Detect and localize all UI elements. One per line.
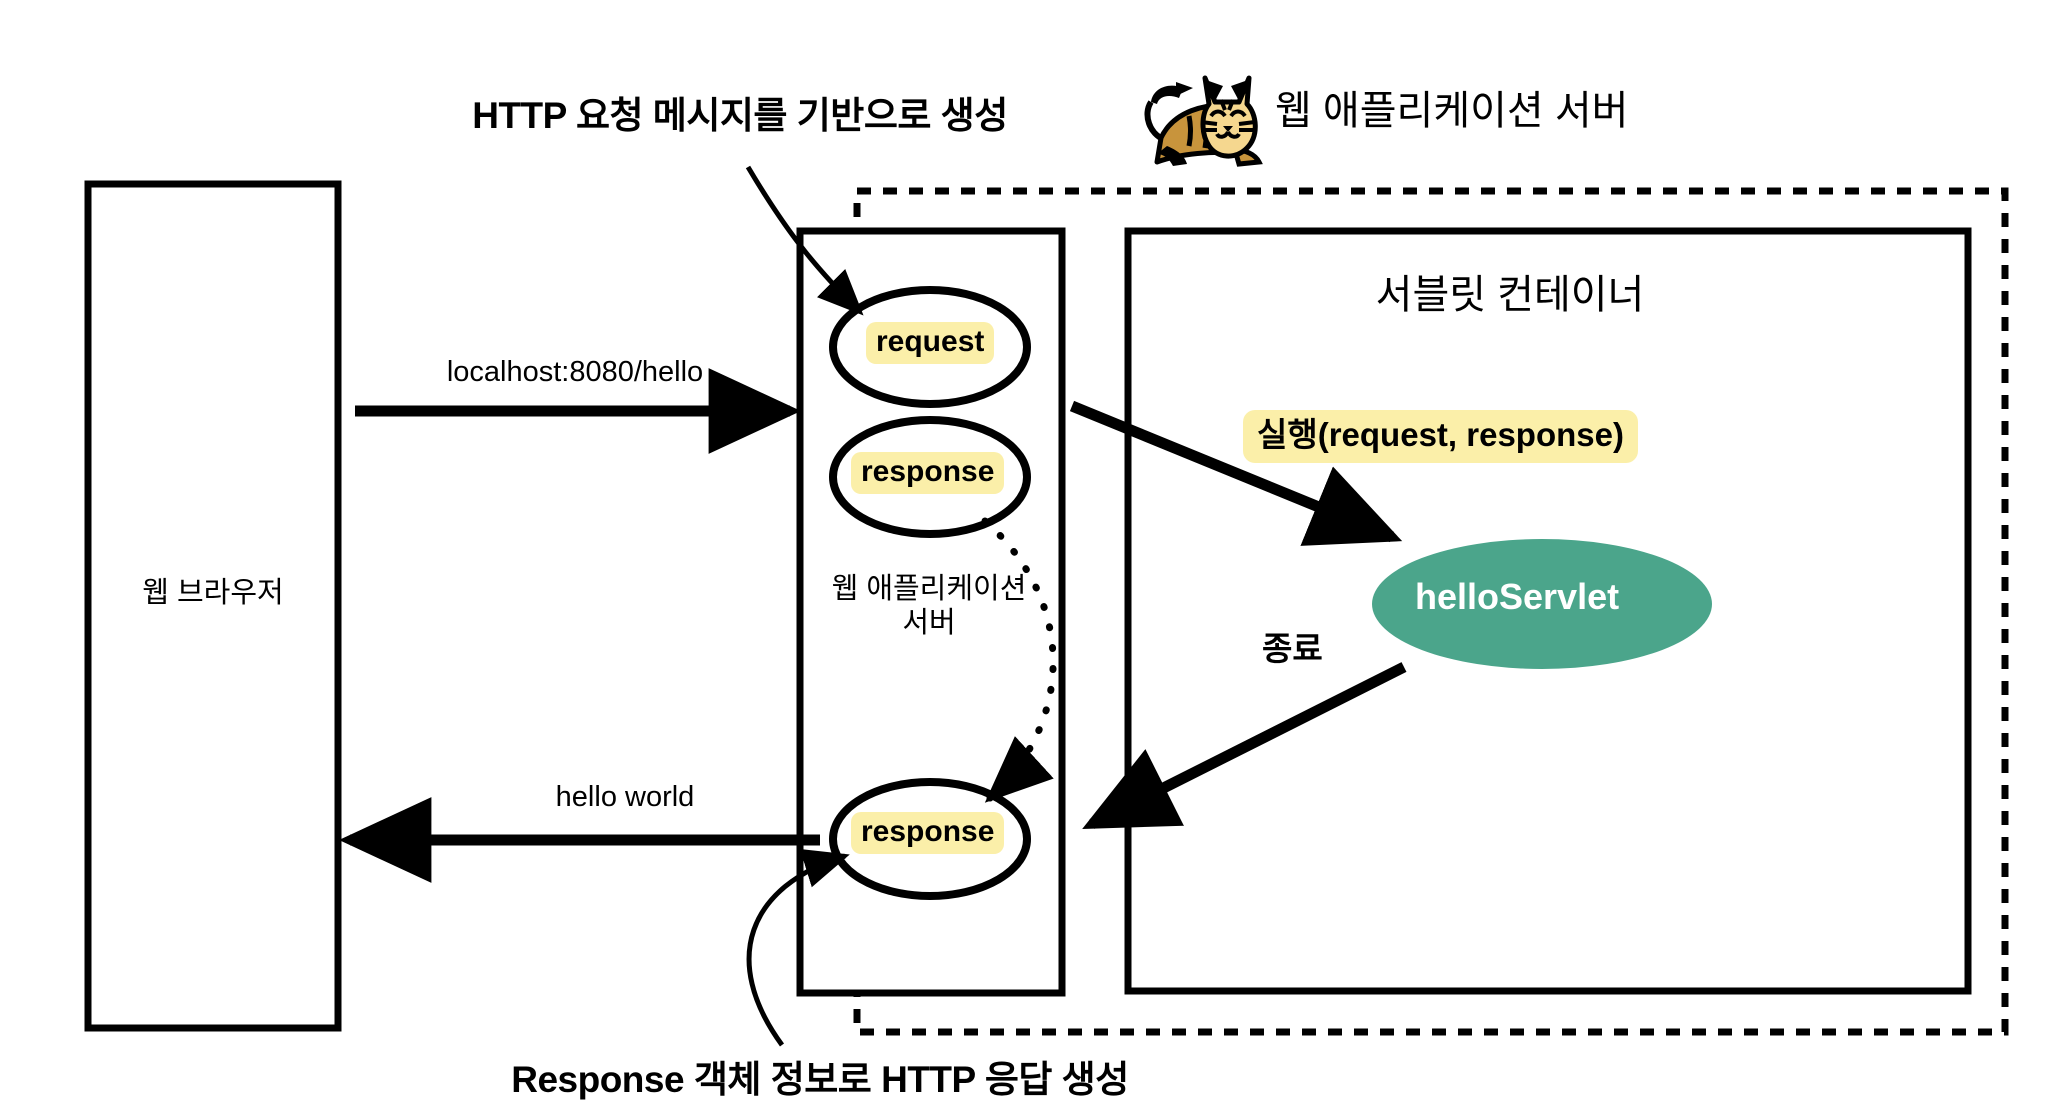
diagram-canvas: HTTP 요청 메시지를 기반으로 생성 웹 애플리케이션 서버 웹 브라우저 … bbox=[0, 0, 2058, 1118]
diagram-vector-layer bbox=[0, 0, 2058, 1118]
request-object-label: request bbox=[866, 322, 994, 364]
response-out-object-label: response bbox=[851, 812, 1004, 854]
end-arrow bbox=[1092, 667, 1404, 824]
request-url-label: localhost:8080/hello bbox=[400, 355, 750, 389]
servlet-container-title: 서블릿 컨테이너 bbox=[1160, 272, 1860, 319]
top-annotation-label: HTTP 요청 메시지를 기반으로 생성 bbox=[440, 94, 1040, 138]
response-body-label: hello world bbox=[500, 780, 750, 814]
tomcat-cat-logo bbox=[1143, 58, 1283, 176]
top-annotation-arrow bbox=[748, 167, 860, 312]
web-browser-label: 웹 브라우저 bbox=[88, 576, 338, 610]
was-inner-label: 웹 애플리케이션 서버 bbox=[800, 572, 1058, 640]
bottom-annotation-arrow bbox=[749, 856, 845, 1045]
execute-call-label: 실행(request, response) bbox=[1243, 410, 1638, 463]
hello-servlet-label: helloServlet bbox=[1415, 576, 1619, 618]
response-flow-dotted-curve bbox=[985, 521, 1053, 798]
bottom-annotation-label: Response 객체 정보로 HTTP 응답 생성 bbox=[460, 1058, 1180, 1102]
end-call-label: 종료 bbox=[1262, 630, 1323, 669]
was-header-title: 웹 애플리케이션 서버 bbox=[1275, 88, 1628, 135]
response-object-label: response bbox=[851, 452, 1004, 494]
